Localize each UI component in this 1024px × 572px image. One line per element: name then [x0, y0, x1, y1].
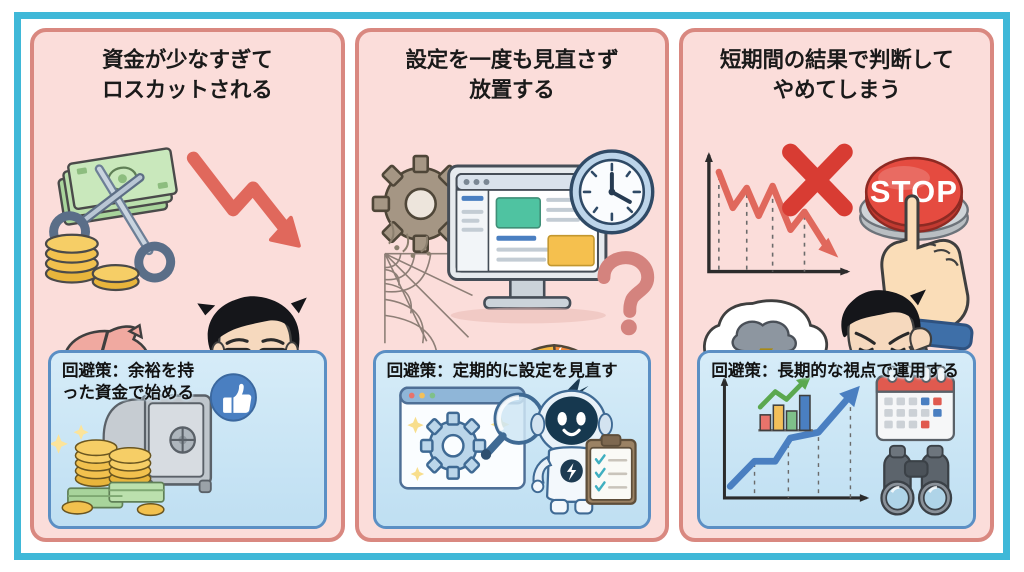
panel-1-illustration: 回避策：余裕を持 った資金で始める: [38, 109, 337, 538]
panel-short-term-quit[interactable]: 短期間の結果で判断して やめてしまう: [679, 28, 994, 542]
down-trend-arrow-icon: [193, 158, 299, 246]
solution-label-3: 回避策：長期的な視点で運用する: [711, 360, 967, 382]
solution-box-2[interactable]: 回避策：定期的に設定を見直す: [373, 350, 652, 529]
panel-row: 資金が少なすぎて ロスカットされる: [30, 28, 994, 542]
gear-icon: [421, 413, 485, 479]
panel-neglected-settings[interactable]: 設定を一度も見直さず 放置する: [355, 28, 670, 542]
red-x-icon: [791, 152, 845, 208]
solution-label-2: 回避策：定期的に設定を見直す: [387, 360, 643, 382]
wall-clock-icon: [571, 151, 653, 233]
panel-3-illustration: STOP: [687, 109, 986, 538]
clipboard-checklist-icon: [586, 435, 635, 504]
page-title: 設定を一度も見直さず 放置する: [369, 46, 656, 105]
solution-box-1[interactable]: 回避策：余裕を持 った資金で始める: [48, 350, 327, 529]
panel-2-illustration: LAW RISK HIGH HIGH: [363, 109, 662, 538]
question-mark-icon: [604, 258, 648, 336]
infographic-root: 資金が少なすぎて ロスカットされる: [0, 0, 1024, 572]
solution-box-3[interactable]: 回避策：長期的な視点で運用する: [697, 350, 976, 529]
page-title: 短期間の結果で判断して やめてしまう: [693, 46, 980, 105]
page-title: 資金が少なすぎて ロスカットされる: [44, 46, 331, 105]
panel-underfunded[interactable]: 資金が少なすぎて ロスカットされる: [30, 28, 345, 542]
solution-label-1: 回避策：余裕を持 った資金で始める: [62, 360, 318, 405]
coin-stack-icon: [46, 235, 139, 290]
